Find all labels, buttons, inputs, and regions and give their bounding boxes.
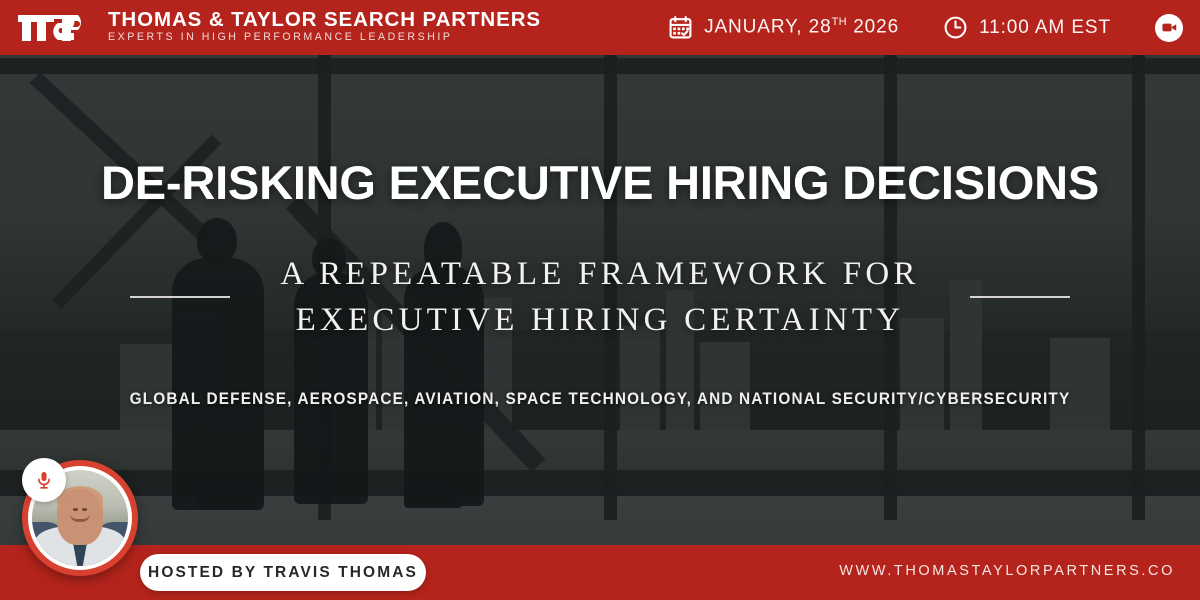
date-value: JANUARY, 28: [704, 17, 831, 38]
microphone-icon: [34, 470, 54, 490]
ttsp-logo-icon: [18, 11, 92, 45]
event-date-text: JANUARY, 28TH 2026: [704, 16, 899, 38]
decorative-rule-left: [130, 296, 230, 298]
calendar-check-icon: [668, 15, 693, 40]
event-time-text: 11:00 AM EST: [979, 17, 1111, 39]
subtitle-line-1: A REPEATABLE FRAMEWORK FOR: [0, 252, 1200, 298]
brand-tagline: EXPERTS IN HIGH PERFORMANCE LEADERSHIP: [108, 30, 541, 46]
header-meta: JANUARY, 28TH 2026 11:00 AM EST: [668, 14, 1200, 42]
video-camera-icon: [1161, 19, 1178, 36]
clock-icon: [943, 15, 968, 40]
date-ordinal: TH: [832, 16, 847, 28]
hosted-by-pill[interactable]: HOSTED BY TRAVIS THOMAS: [140, 554, 426, 591]
speaker-avatar: [22, 460, 138, 576]
avatar-eye-right: [82, 508, 87, 511]
avatar-eye-left: [73, 508, 78, 511]
subtitle-line-2: EXECUTIVE HIRING CERTAINTY: [0, 298, 1200, 344]
brand-logo[interactable]: THOMAS & TAYLOR SEARCH PARTNERS EXPERTS …: [0, 9, 541, 46]
brand-name: THOMAS & TAYLOR SEARCH PARTNERS: [108, 9, 541, 31]
top-header-bar: THOMAS & TAYLOR SEARCH PARTNERS EXPERTS …: [0, 0, 1200, 55]
website-url[interactable]: WWW.THOMASTAYLORPARTNERS.CO: [839, 563, 1175, 579]
avatar-face: [57, 489, 103, 545]
event-date: JANUARY, 28TH 2026: [668, 15, 899, 40]
avatar-smile: [70, 514, 90, 522]
decorative-rule-right: [970, 296, 1070, 298]
microphone-badge: [22, 458, 66, 502]
date-year: 2026: [853, 17, 899, 38]
main-content: DE-RISKING EXECUTIVE HIRING DECISIONS A …: [0, 0, 1200, 600]
hosted-by-label: HOSTED BY TRAVIS THOMAS: [148, 564, 418, 582]
event-time: 11:00 AM EST: [943, 15, 1111, 40]
video-camera-button[interactable]: [1155, 14, 1183, 42]
page-title: DE-RISKING EXECUTIVE HIRING DECISIONS: [0, 155, 1200, 210]
industries-line: GLOBAL DEFENSE, AEROSPACE, AVIATION, SPA…: [42, 390, 1158, 409]
